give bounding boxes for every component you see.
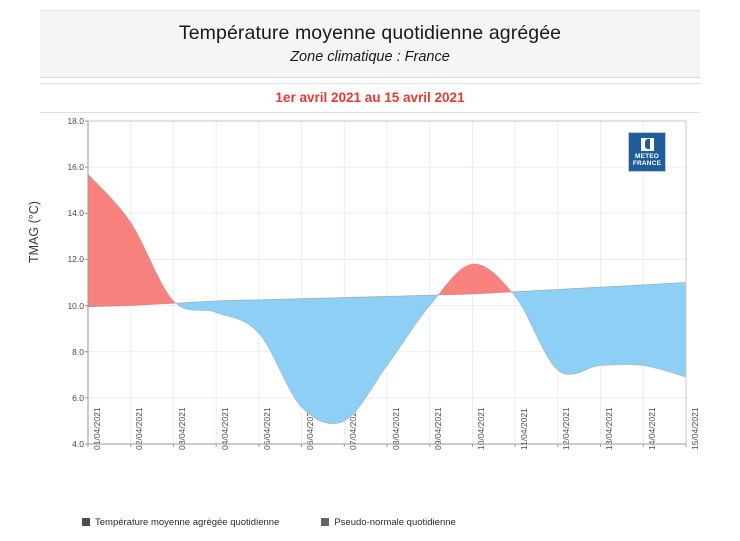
gridlines — [88, 121, 686, 444]
area-segment-above — [88, 174, 175, 307]
legend-swatch-pseudo-normale — [321, 518, 329, 526]
legend-label-tmag: Température moyenne agrégée quotidienne — [95, 517, 279, 528]
area-segment-below — [513, 283, 686, 378]
meteo-france-mark-icon — [641, 138, 654, 151]
legend-swatch-tmag — [82, 518, 90, 526]
chart-legend: Température moyenne agrégée quotidienne … — [82, 513, 642, 531]
chart-svg — [38, 117, 702, 450]
logo-line-1: METEO — [635, 153, 659, 161]
meteo-france-logo: METEO FRANCE — [628, 132, 666, 172]
logo-line-2: FRANCE — [633, 160, 661, 168]
legend-item-pseudo-normale: Pseudo-normale quotidienne — [321, 517, 455, 528]
area-segment-above — [439, 264, 511, 295]
legend-label-pseudo-normale: Pseudo-normale quotidienne — [334, 517, 455, 528]
chart-page: Température moyenne quotidienne agrégée … — [0, 0, 740, 541]
plot-area — [38, 117, 702, 450]
area-above-normal — [88, 174, 511, 307]
legend-item-tmag: Température moyenne agrégée quotidienne — [82, 517, 279, 528]
